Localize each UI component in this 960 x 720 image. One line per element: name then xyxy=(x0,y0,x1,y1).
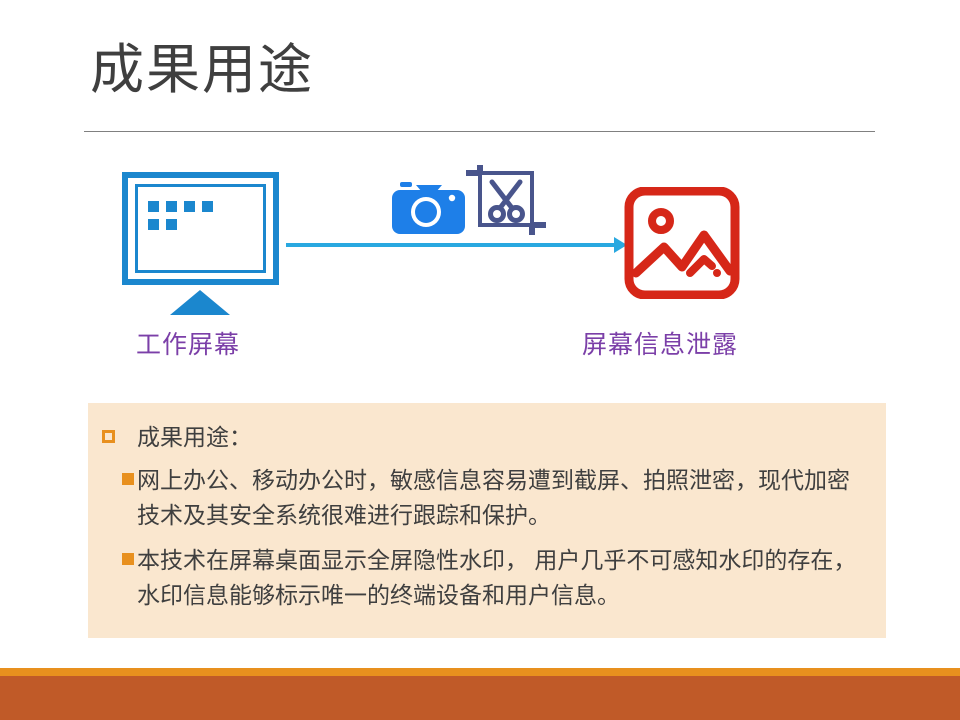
hollow-square-bullet-icon xyxy=(102,430,115,443)
monitor-pixel xyxy=(148,201,159,212)
monitor-pixel xyxy=(184,201,195,212)
title-divider xyxy=(84,131,875,132)
solid-square-bullet-icon xyxy=(122,553,134,565)
bullet-level2: 网上办公、移动办公时，敏感信息容易遭到截屏、拍照泄密，现代加密技术及其安全系统很… xyxy=(122,463,868,533)
bullet-level1: 成果用途： xyxy=(102,421,868,453)
monitor-icon xyxy=(122,172,285,317)
content-item-text: 本技术在屏幕桌面显示全屏隐性水印， 用户几乎不可感知水印的存在， 水印信息能够标… xyxy=(137,543,868,613)
content-box: 成果用途： 网上办公、移动办公时，敏感信息容易遭到截屏、拍照泄密，现代加密技术及… xyxy=(88,403,886,638)
page-title: 成果用途 xyxy=(90,38,314,103)
monitor-pixel xyxy=(202,201,213,212)
footer-stripe xyxy=(0,668,960,676)
content-heading: 成果用途： xyxy=(137,421,252,453)
solid-square-bullet-icon xyxy=(122,473,134,485)
image-icon xyxy=(624,187,740,299)
diagram-label-left: 工作屏幕 xyxy=(136,325,240,361)
footer-band xyxy=(0,676,960,720)
content-item-text: 网上办公、移动办公时，敏感信息容易遭到截屏、拍照泄密，现代加密技术及其安全系统很… xyxy=(137,463,868,533)
diagram-label-right: 屏幕信息泄露 xyxy=(582,325,738,361)
bullet-level2: 本技术在屏幕桌面显示全屏隐性水印， 用户几乎不可感知水印的存在， 水印信息能够标… xyxy=(122,543,868,613)
slide-canvas: 成果用途 xyxy=(0,0,960,720)
arrow-right-icon xyxy=(286,243,616,247)
crop-scissors-icon xyxy=(466,165,550,237)
monitor-pixel xyxy=(166,201,177,212)
monitor-stand xyxy=(170,290,230,315)
monitor-pixel xyxy=(148,219,159,230)
camera-icon xyxy=(392,180,465,235)
diagram-region: 工作屏幕 屏幕信息泄露 xyxy=(0,155,960,370)
monitor-pixel xyxy=(166,219,177,230)
